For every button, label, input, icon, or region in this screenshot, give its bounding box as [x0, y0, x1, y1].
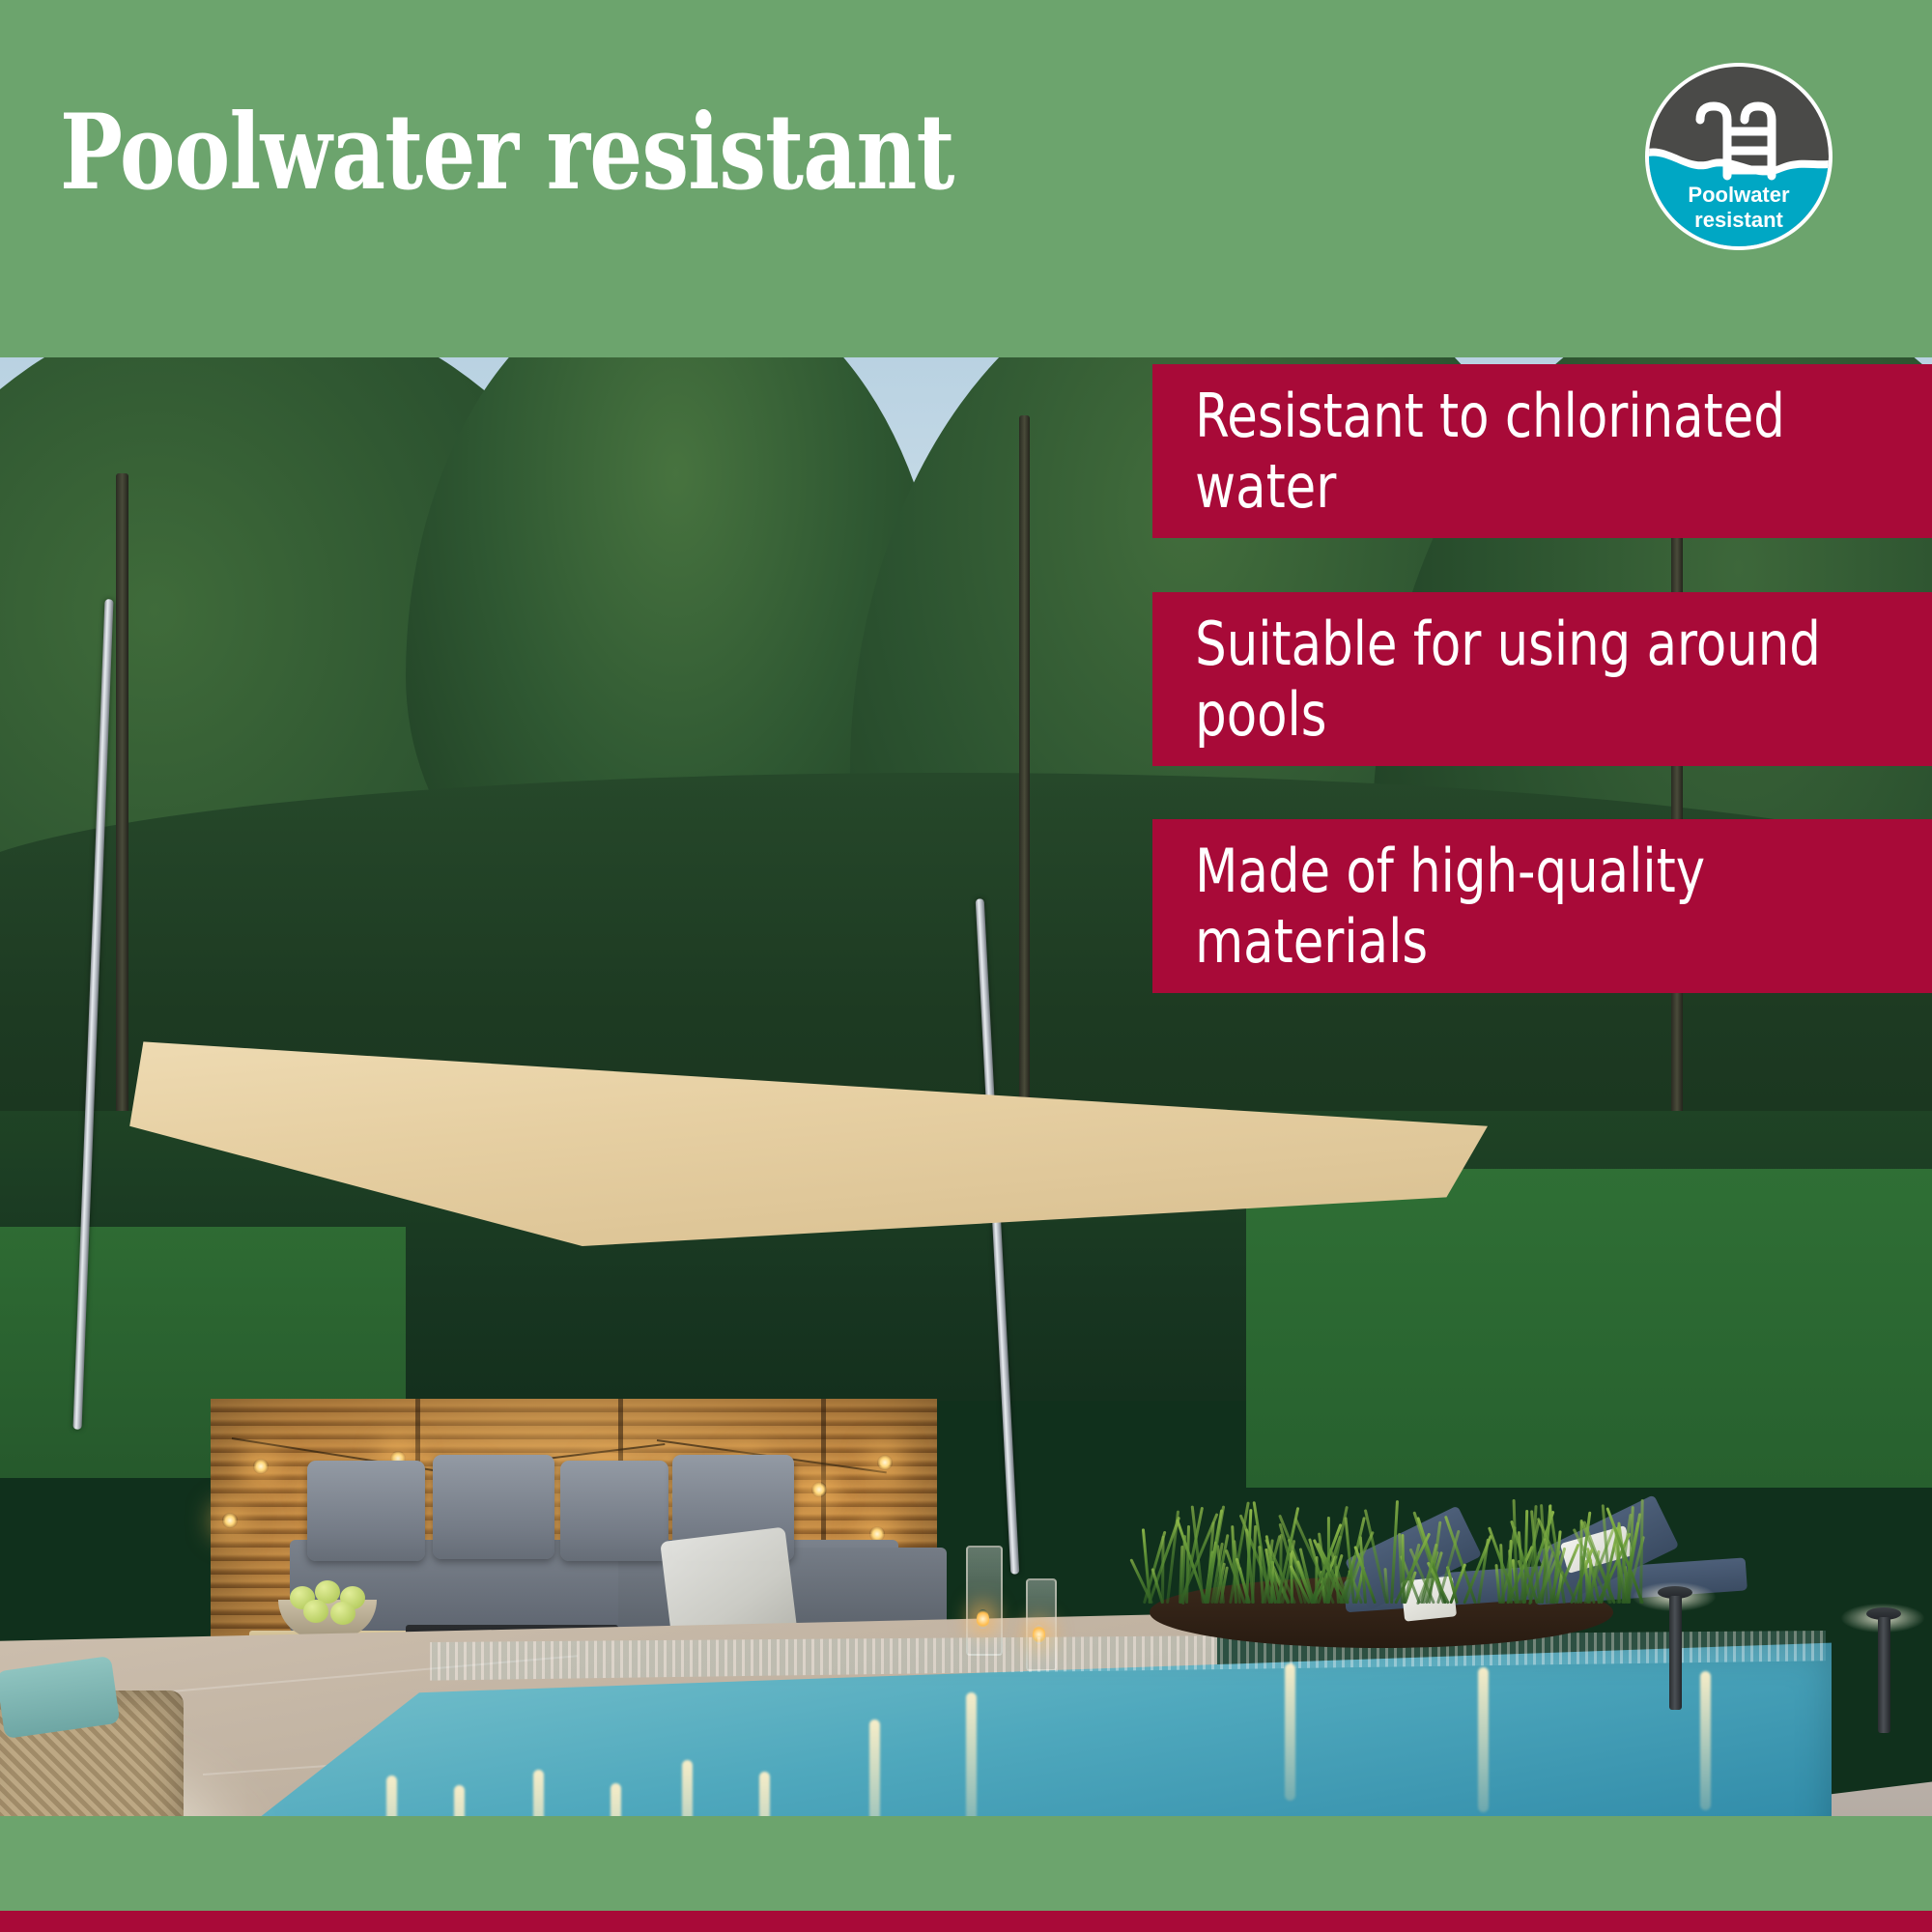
ornamental-grass-blade [1364, 1509, 1388, 1604]
string-light-bulb [877, 1455, 893, 1470]
light-reflection [966, 1692, 977, 1816]
feature-callout-2: Suitable for using around pools [1152, 592, 1932, 766]
feature-callout-3-text: Made of high-quality materials [1152, 836, 1869, 977]
light-reflection [1700, 1671, 1711, 1810]
sofa-cushion [560, 1461, 668, 1561]
badge-line-2: resistant [1694, 208, 1783, 232]
feature-callout-2-text: Suitable for using around pools [1152, 609, 1869, 750]
feature-callout-1-text: Resistant to chlorinated water [1152, 381, 1869, 522]
light-reflection [759, 1772, 770, 1816]
footer-red-bar [0, 1911, 1932, 1932]
light-reflection [611, 1783, 621, 1816]
badge-graphic: Poolwater resistant [1642, 60, 1835, 253]
header-band: Poolwater resistant [0, 0, 1932, 357]
light-reflection [386, 1776, 397, 1816]
ornamental-grass-blade [1477, 1538, 1490, 1604]
page-title: Poolwater resistant [60, 100, 954, 205]
tree-trunk [1019, 415, 1030, 1150]
light-reflection [1285, 1663, 1295, 1801]
footer-green-band [0, 1816, 1932, 1911]
sofa-cushion [307, 1461, 425, 1561]
feature-callout-3: Made of high-quality materials [1152, 819, 1932, 993]
poolside-garden-photo [0, 357, 1932, 1816]
tree-trunk [116, 473, 128, 1150]
bollard-light-pole [1669, 1596, 1682, 1710]
string-light-bulb [811, 1482, 827, 1497]
ornamental-grass-blade [1161, 1536, 1165, 1604]
ornamental-grass-blade [1390, 1500, 1399, 1604]
poolwater-resistant-infographic: Poolwater resistant [0, 0, 1932, 1932]
light-reflection [533, 1770, 544, 1816]
light-reflection [682, 1760, 693, 1816]
poolwater-resistant-badge: Poolwater resistant [1642, 60, 1835, 253]
bollard-light-pole [1878, 1617, 1890, 1733]
ornamental-grass-tufts [1140, 1497, 1642, 1604]
light-reflection [1478, 1667, 1489, 1812]
light-reflection [454, 1785, 465, 1816]
lantern-flame [977, 1609, 989, 1629]
sofa-cushion [433, 1455, 554, 1559]
tree-trunk [1671, 444, 1683, 1121]
string-light-bulb [222, 1513, 238, 1528]
badge-line-1: Poolwater [1688, 183, 1790, 207]
light-reflection [869, 1719, 880, 1816]
lawn-right [1246, 1169, 1932, 1488]
string-light-bulb [253, 1459, 269, 1474]
fruit [303, 1600, 328, 1623]
fruit [330, 1602, 355, 1625]
feature-callout-1: Resistant to chlorinated water [1152, 364, 1932, 538]
